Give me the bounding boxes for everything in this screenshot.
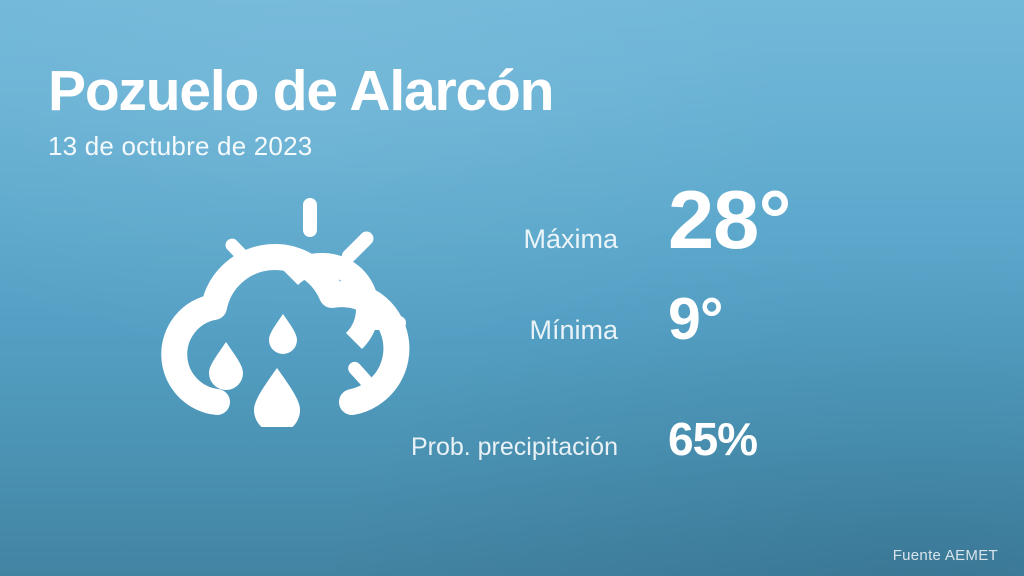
header: Pozuelo de Alarcón 13 de octubre de 2023 [48, 62, 553, 162]
weather-card: Pozuelo de Alarcón 13 de octubre de 2023 [0, 0, 1024, 576]
raindrop-bottom [254, 368, 300, 427]
minima-label: Mínima [400, 315, 668, 346]
maxima-value: 28° [668, 178, 791, 261]
reading-row-maxima: Máxima 28° [400, 178, 960, 290]
readings-list: Máxima 28° Mínima 9° Prob. precipitación… [400, 178, 960, 462]
sun-ray-top [303, 198, 317, 237]
source-attribution: Fuente AEMET [893, 547, 998, 564]
reading-row-precipitacion: Prob. precipitación 65% [400, 416, 960, 462]
page-title: Pozuelo de Alarcón [48, 62, 553, 122]
precipitacion-label: Prob. precipitación [400, 433, 668, 462]
reading-row-minima: Mínima 9° [400, 290, 960, 416]
precipitacion-value: 65% [668, 416, 757, 462]
maxima-label: Máxima [400, 224, 668, 255]
sun-behind-rain-cloud-icon [155, 192, 425, 427]
raindrop-left [209, 342, 243, 390]
forecast-date: 13 de octubre de 2023 [48, 131, 553, 162]
raindrop-top [269, 314, 297, 354]
minima-value: 9° [668, 290, 722, 349]
